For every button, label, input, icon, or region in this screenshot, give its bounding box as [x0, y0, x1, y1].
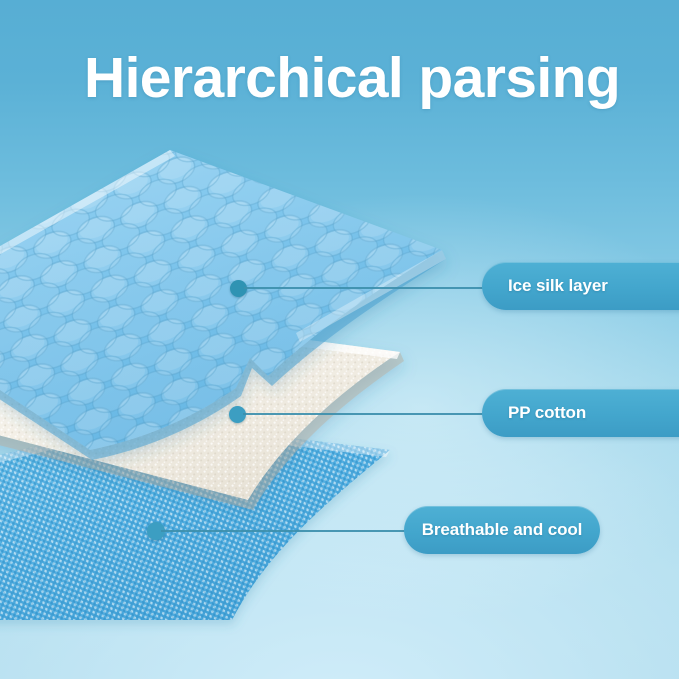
- label-pill-ice-silk-text: Ice silk layer: [508, 276, 608, 296]
- label-pill-ice-silk[interactable]: Ice silk layer: [482, 262, 679, 310]
- infographic-canvas: Hierarchical parsing: [0, 0, 679, 679]
- label-pill-breathable[interactable]: Breathable and cool: [404, 506, 600, 554]
- page-title: Hierarchical parsing: [84, 41, 604, 115]
- callout-leader-line: [244, 287, 496, 289]
- label-pill-pp-cotton-text: PP cotton: [508, 403, 586, 423]
- callout-leader-line: [243, 413, 496, 415]
- callout-leader-line: [161, 530, 419, 532]
- label-pill-pp-cotton[interactable]: PP cotton: [482, 389, 679, 437]
- label-pill-breathable-text: Breathable and cool: [422, 520, 583, 540]
